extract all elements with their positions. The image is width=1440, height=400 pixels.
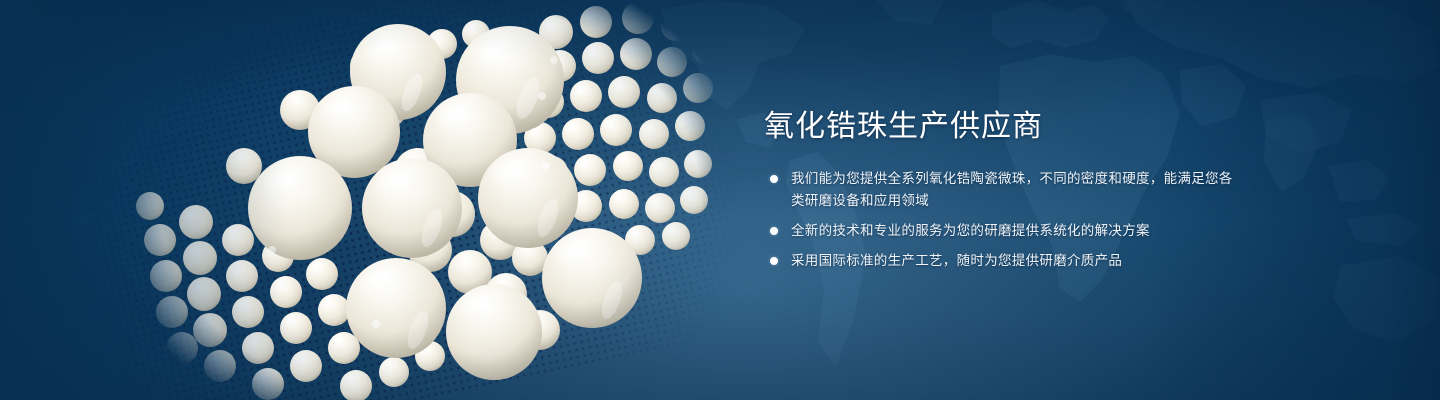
list-item: 采用国际标准的生产工艺，随时为您提供研磨介质产品 — [764, 250, 1234, 272]
list-item: 我们能为您提供全系列氧化锆陶瓷微珠，不同的密度和硬度，能满足您各类研磨设备和应用… — [764, 168, 1234, 212]
bullet-dot-icon — [770, 227, 778, 235]
list-item-text: 全新的技术和专业的服务为您的研磨提供系统化的解决方案 — [791, 223, 1150, 238]
list-item-text: 采用国际标准的生产工艺，随时为您提供研磨介质产品 — [791, 253, 1122, 268]
feature-list: 我们能为您提供全系列氧化锆陶瓷微珠，不同的密度和硬度，能满足您各类研磨设备和应用… — [764, 168, 1234, 272]
banner-content: 氧化锆珠生产供应商 我们能为您提供全系列氧化锆陶瓷微珠，不同的密度和硬度，能满足… — [764, 108, 1234, 272]
bullet-dot-icon — [770, 257, 778, 265]
bullet-dot-icon — [770, 175, 778, 183]
page-title: 氧化锆珠生产供应商 — [764, 108, 1234, 146]
hero-banner: 氧化锆珠生产供应商 我们能为您提供全系列氧化锆陶瓷微珠，不同的密度和硬度，能满足… — [0, 0, 1440, 400]
list-item: 全新的技术和专业的服务为您的研磨提供系统化的解决方案 — [764, 220, 1234, 242]
list-item-text: 我们能为您提供全系列氧化锆陶瓷微珠，不同的密度和硬度，能满足您各类研磨设备和应用… — [791, 171, 1233, 208]
